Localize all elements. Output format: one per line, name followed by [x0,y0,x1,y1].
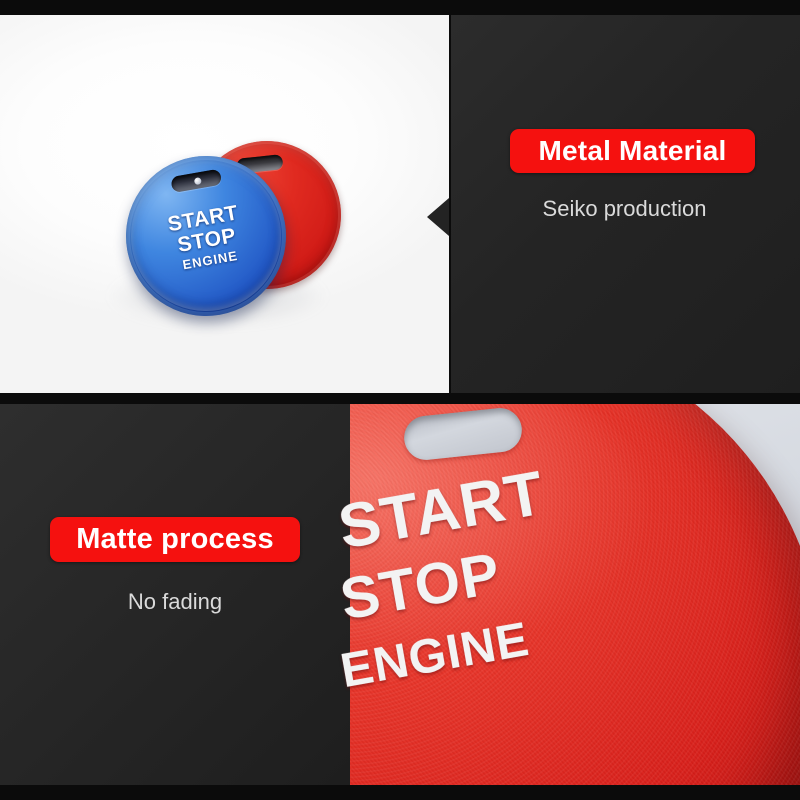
product-feature-graphic: TART START STOP ENGINE Metal Material Se… [0,0,800,800]
top-vertical-divider [449,15,451,393]
top-frame-band [0,0,800,15]
metal-material-badge: Metal Material [510,129,755,173]
middle-divider-band [0,393,800,404]
left-pointer-triangle-icon [427,198,449,236]
metal-material-subtitle: Seiko production [449,196,800,222]
product-photo-two-discs: TART START STOP ENGINE [0,15,449,393]
bottom-frame-band [0,785,800,800]
slot-inner-dot [194,177,202,185]
matte-process-subtitle: No fading [0,589,350,615]
matte-process-badge: Matte process [50,517,300,562]
